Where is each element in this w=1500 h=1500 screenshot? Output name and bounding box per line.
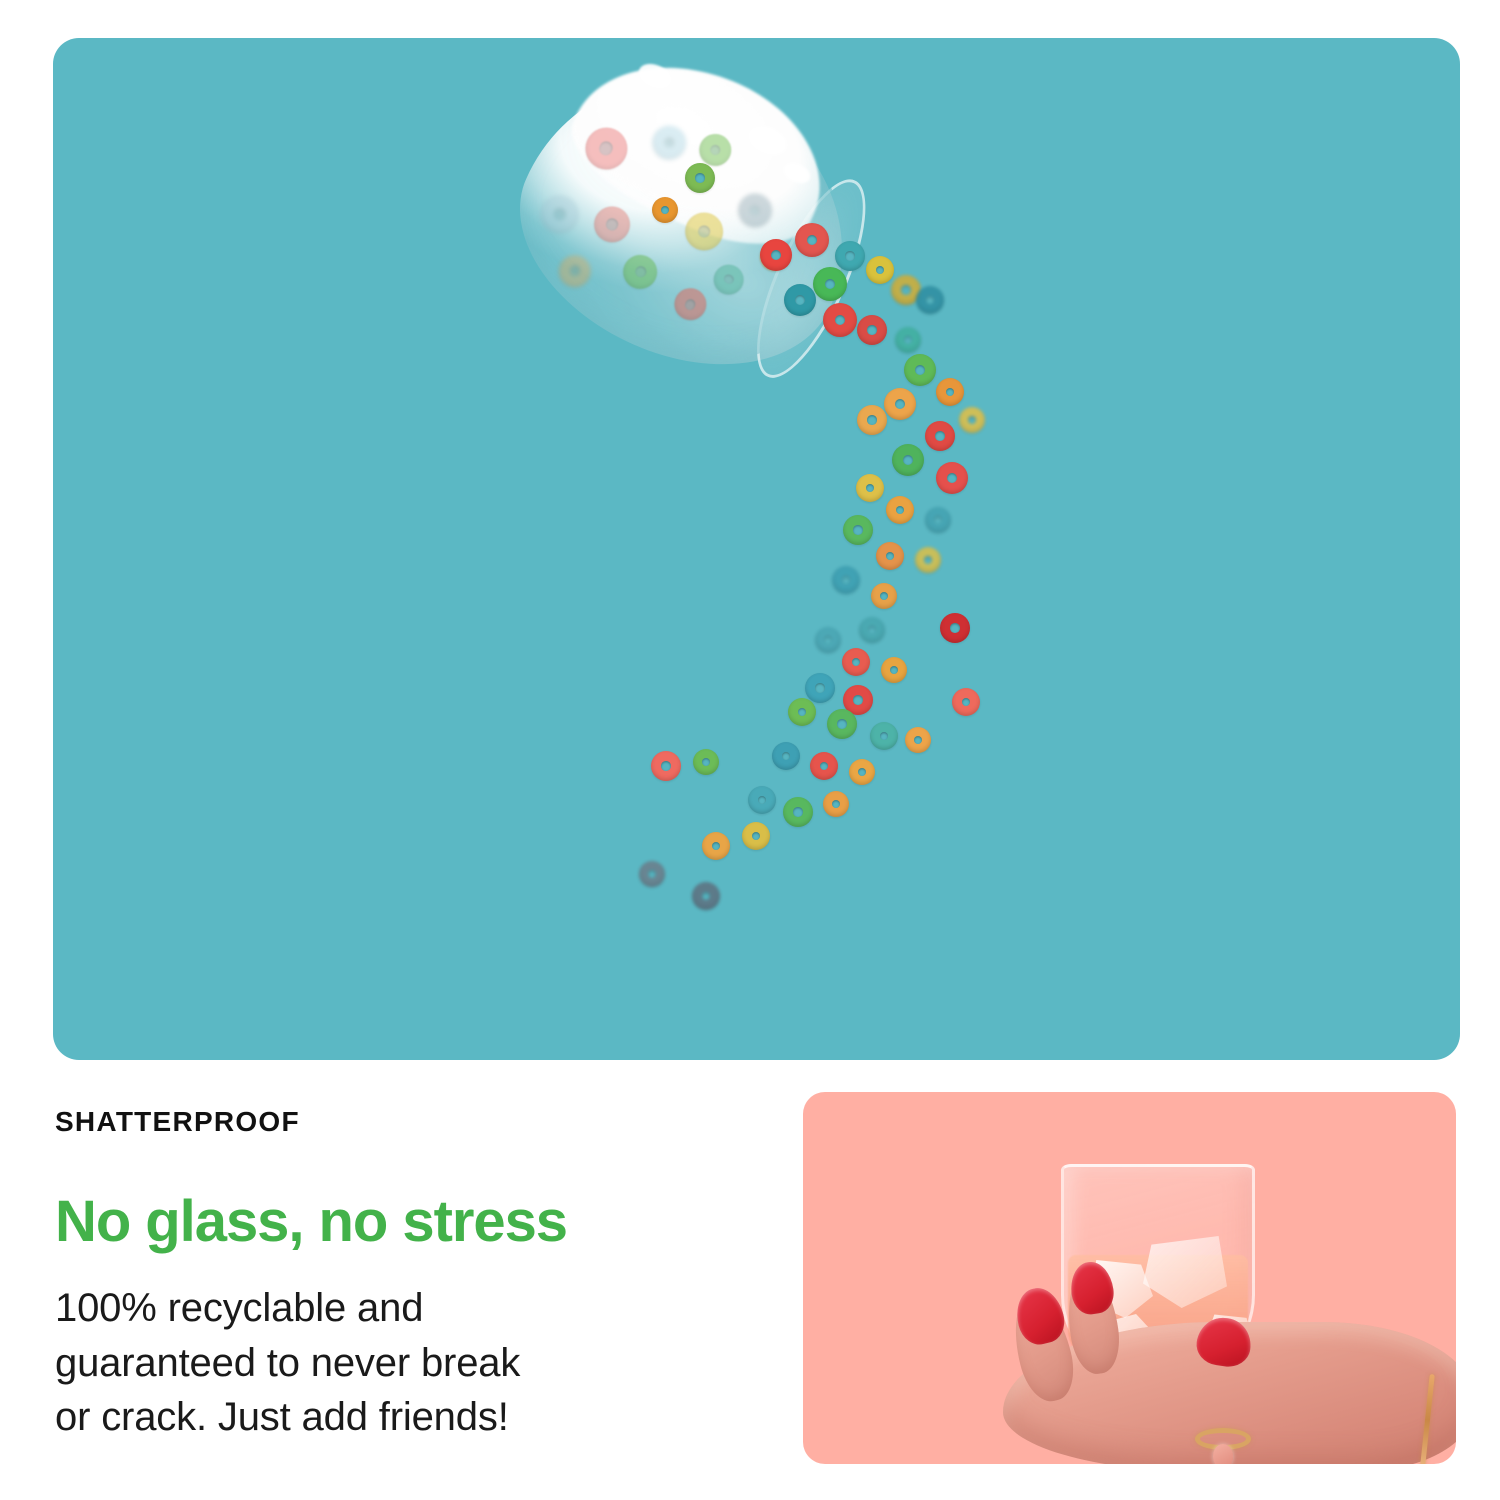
copy-block: SHATTERPROOF No glass, no stress 100% re…: [55, 1108, 695, 1444]
cereal-ring: [936, 462, 968, 494]
cereal-ring: [856, 474, 884, 502]
body-line-2: guaranteed to never break: [55, 1336, 695, 1390]
cereal-ring: [915, 547, 941, 573]
cereal-ring: [936, 378, 964, 406]
headline: No glass, no stress: [55, 1192, 695, 1251]
cereal-ring: [742, 822, 770, 850]
cereal-ring: [904, 354, 936, 386]
cereal-ring: [652, 197, 678, 223]
cereal-ring: [685, 163, 715, 193]
cereal-ring: [940, 613, 970, 643]
cereal-ring: [784, 284, 816, 316]
cereal-ring: [692, 882, 720, 910]
cereal-ring: [651, 751, 681, 781]
cereal-ring: [884, 388, 916, 420]
cereal-ring: [702, 832, 730, 860]
ring-stone: [1213, 1444, 1233, 1464]
cereal-ring: [892, 444, 924, 476]
cereal-ring: [815, 627, 841, 653]
cereal-ring: [805, 673, 835, 703]
cereal-ring: [693, 749, 719, 775]
cereal-ring: [813, 267, 847, 301]
cereal-ring: [895, 327, 921, 353]
cereal-ring: [857, 315, 887, 345]
cereal-ring: [849, 759, 875, 785]
cereal-ring: [843, 515, 873, 545]
cereal-ring: [866, 256, 894, 284]
cereal-ring: [859, 617, 885, 643]
body-line-3: or crack. Just add friends!: [55, 1390, 695, 1444]
product-detail-panel: [803, 1092, 1456, 1464]
cereal-trail: [53, 38, 1460, 1060]
cereal-ring: [795, 223, 829, 257]
cereal-ring: [772, 742, 800, 770]
cereal-ring: [886, 496, 914, 524]
hand: [973, 1310, 1456, 1464]
cereal-ring: [810, 752, 838, 780]
cereal-ring: [823, 791, 849, 817]
body-copy: 100% recyclable and guaranteed to never …: [55, 1281, 695, 1444]
cereal-ring: [870, 722, 898, 750]
cereal-ring: [925, 421, 955, 451]
cereal-ring: [952, 688, 980, 716]
cereal-ring: [788, 698, 816, 726]
cereal-ring: [832, 566, 860, 594]
cereal-ring: [639, 861, 665, 887]
cereal-ring: [959, 407, 985, 433]
cereal-ring: [925, 507, 951, 533]
cereal-ring: [823, 303, 857, 337]
cereal-ring: [905, 727, 931, 753]
cereal-ring: [916, 286, 944, 314]
cereal-ring: [857, 405, 887, 435]
cereal-ring: [871, 583, 897, 609]
body-line-1: 100% recyclable and: [55, 1281, 695, 1335]
cereal-ring: [748, 786, 776, 814]
cereal-ring: [835, 241, 865, 271]
eyebrow-label: SHATTERPROOF: [55, 1108, 695, 1136]
cereal-ring: [876, 542, 904, 570]
hero-image-panel: [53, 38, 1460, 1060]
cereal-ring: [881, 657, 907, 683]
cereal-ring: [783, 797, 813, 827]
cereal-ring: [827, 709, 857, 739]
cereal-ring: [760, 239, 792, 271]
cereal-ring: [842, 648, 870, 676]
